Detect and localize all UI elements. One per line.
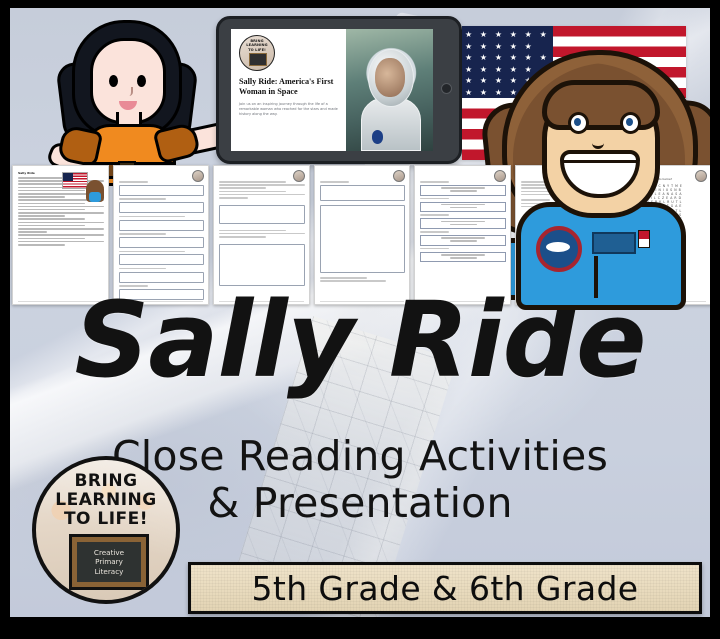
cover-canvas: BRING LEARNING TO LIFE! Sally Ride: Amer… — [10, 8, 710, 617]
nasa-mission-patch-icon — [536, 226, 582, 272]
slide-brand-logo: BRING LEARNING TO LIFE! — [239, 35, 275, 71]
badge-line-1: BRING — [74, 471, 137, 491]
worksheet-paragraph — [18, 218, 104, 232]
teacher-eye-left — [109, 75, 118, 87]
badge-line-3: TO LIFE! — [64, 509, 148, 529]
worksheet-sally-avatar — [86, 180, 104, 202]
badge-line-2: LEARNING — [55, 490, 156, 510]
astronaut-photo — [346, 29, 433, 151]
worksheet-logo-badge — [192, 170, 204, 182]
slide-subtitle: Join us on an inspiring journey through … — [239, 102, 339, 117]
slide-text-column: BRING LEARNING TO LIFE! Sally Ride: Amer… — [231, 29, 346, 151]
flag-star-row: ★ ★ ★ ★ ★ ★ — [465, 29, 683, 41]
chalk-line-1: Creative — [94, 548, 124, 557]
worksheet-logo-badge — [695, 170, 707, 182]
teacher-eye-right — [137, 75, 146, 87]
bring-learning-to-life-badge: BRING LEARNING TO LIFE! Creative Primary… — [32, 456, 180, 604]
worksheet-logo-badge — [494, 170, 506, 182]
teacher-character — [34, 16, 214, 176]
sally-eye-left — [568, 112, 589, 134]
sally-eye-right — [620, 112, 641, 134]
teacher-nose — [125, 87, 133, 96]
chalk-line-3: Literacy — [95, 567, 124, 576]
product-cover: BRING LEARNING TO LIFE! Sally Ride: Amer… — [0, 0, 720, 639]
presentation-slide: BRING LEARNING TO LIFE! Sally Ride: Amer… — [231, 29, 433, 151]
slide-title: Sally Ride: America's First Woman in Spa… — [239, 77, 339, 97]
sally-name-tag — [592, 232, 636, 254]
badge-text: BRING LEARNING TO LIFE! — [36, 472, 176, 529]
astronaut-patch — [372, 130, 383, 143]
worksheet-flag-icon — [62, 172, 88, 189]
worksheet-paragraph — [18, 234, 104, 245]
chalkboard-icon: Creative Primary Literacy — [69, 534, 149, 590]
tablet-device: BRING LEARNING TO LIFE! Sally Ride: Amer… — [216, 16, 462, 164]
sally-nose — [592, 136, 604, 149]
slide-logo-chalkboard-icon — [249, 53, 267, 66]
teacher-mouth — [119, 101, 137, 110]
chalk-line-2: Primary — [95, 557, 123, 566]
tablet-camera-icon — [441, 83, 452, 94]
grade-level-banner: 5th Grade & 6th Grade — [188, 562, 702, 614]
chalkboard-text: Creative Primary Literacy — [77, 542, 141, 582]
suit-flag-icon — [638, 230, 650, 248]
worksheet-logo-badge — [293, 170, 305, 182]
worksheet-logo-badge — [393, 170, 405, 182]
sally-bangs — [542, 80, 660, 130]
slide-logo-text: BRING LEARNING TO LIFE! — [240, 39, 274, 52]
suit-zipper — [594, 256, 598, 298]
astronaut-face — [375, 58, 405, 97]
